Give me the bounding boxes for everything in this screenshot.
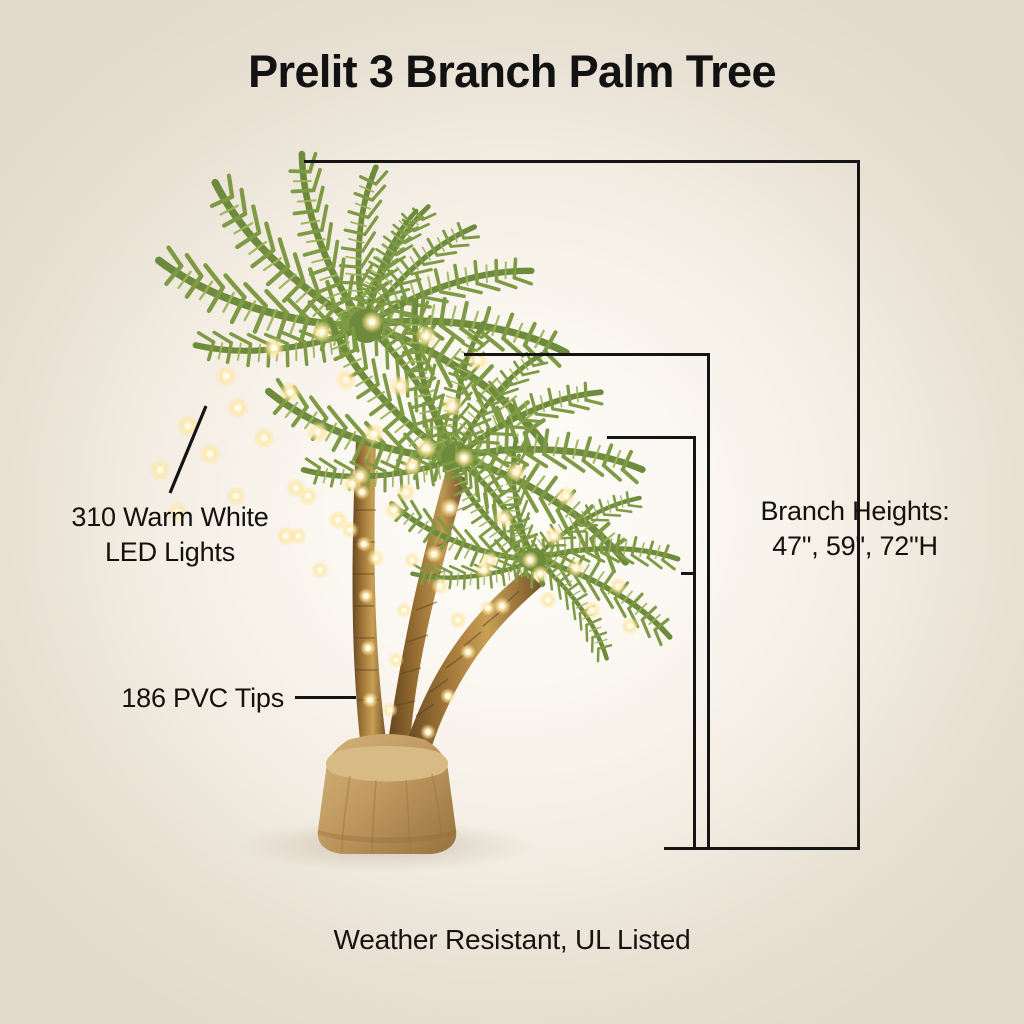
- branch-heights-line1: Branch Heights:: [712, 494, 998, 529]
- led-lights-label-line1: 310 Warm White: [24, 500, 316, 535]
- branch-heights-line2: 47", 59", 72"H: [712, 529, 998, 564]
- bracket-outer-top: [304, 160, 860, 163]
- bottom-caption: Weather Resistant, UL Listed: [0, 924, 1024, 956]
- burlap-base: [318, 734, 457, 854]
- pvc-tips-label: 186 PVC Tips: [62, 681, 284, 716]
- bracket-inner-lower: [693, 572, 696, 850]
- bracket-inner-top: [607, 436, 696, 439]
- bracket-inner-right: [693, 436, 696, 575]
- page-title: Prelit 3 Branch Palm Tree: [0, 48, 1024, 95]
- led-leader-line: [160, 398, 216, 500]
- pvc-leader-line: [295, 696, 356, 699]
- branch-heights-label: Branch Heights: 47", 59", 72"H: [712, 494, 998, 563]
- led-lights-label: 310 Warm White LED Lights: [24, 500, 316, 569]
- bracket-middle-right: [707, 353, 710, 850]
- led-lights-label-line2: LED Lights: [24, 535, 316, 570]
- bracket-baseline: [664, 847, 860, 850]
- bracket-middle-top: [464, 353, 710, 356]
